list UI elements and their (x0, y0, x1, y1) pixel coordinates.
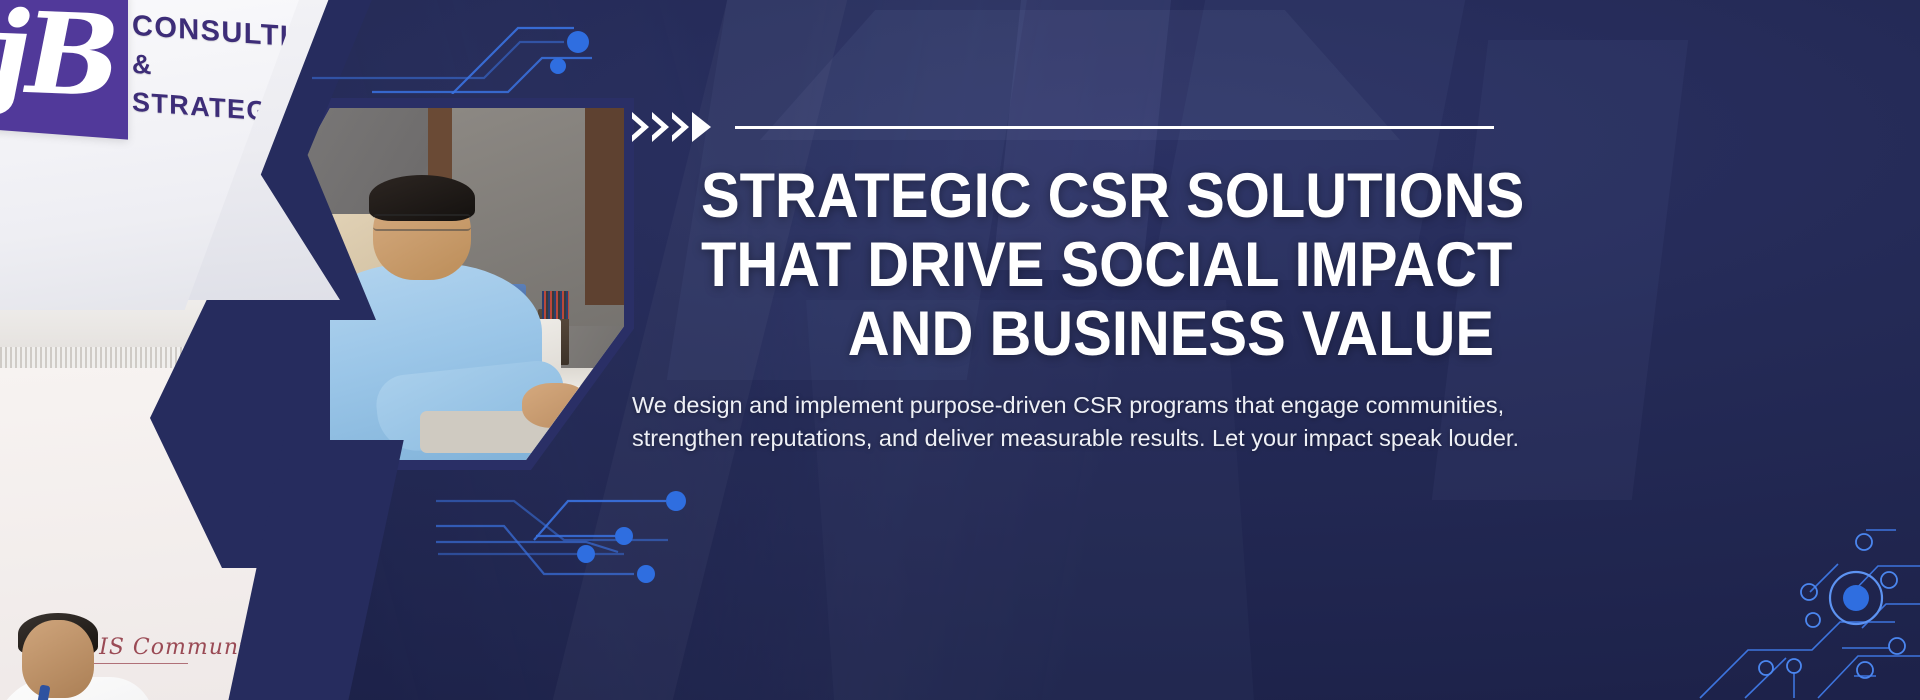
jb-logo-mark: jB (0, 0, 128, 140)
headline-line-1: STRATEGIC CSR SOLUTIONS (701, 162, 1494, 231)
chevron-icon (632, 112, 649, 142)
chevron-icon (692, 112, 711, 142)
subcopy-line-2: strengthen reputations, and deliver meas… (632, 422, 1494, 455)
photo-eyeglasses (373, 214, 471, 232)
chevron-icon (672, 112, 689, 142)
photo-wood-trim (585, 108, 624, 305)
hero-content: STRATEGIC CSR SOLUTIONS THAT DRIVE SOCIA… (632, 110, 1494, 455)
subcopy-line-1: We design and implement purpose-driven C… (632, 389, 1494, 422)
chevrons-right-icon (632, 112, 711, 142)
hero-subcopy: We design and implement purpose-driven C… (632, 389, 1494, 455)
eyebrow-divider (632, 110, 1494, 144)
hero-banner: CRISIS Communication Analysis TYPE Who a… (0, 0, 1920, 700)
photo-person-head (22, 620, 94, 698)
headline-line-2: THAT DRIVE SOCIAL IMPACT (701, 231, 1494, 300)
horizontal-rule (735, 126, 1494, 129)
headline-line-3: AND BUSINESS VALUE (701, 300, 1494, 369)
chevron-icon (652, 112, 669, 142)
jb-logo-text: jB (0, 0, 115, 132)
photo-pens (542, 291, 569, 319)
page-title: STRATEGIC CSR SOLUTIONS THAT DRIVE SOCIA… (701, 162, 1494, 369)
